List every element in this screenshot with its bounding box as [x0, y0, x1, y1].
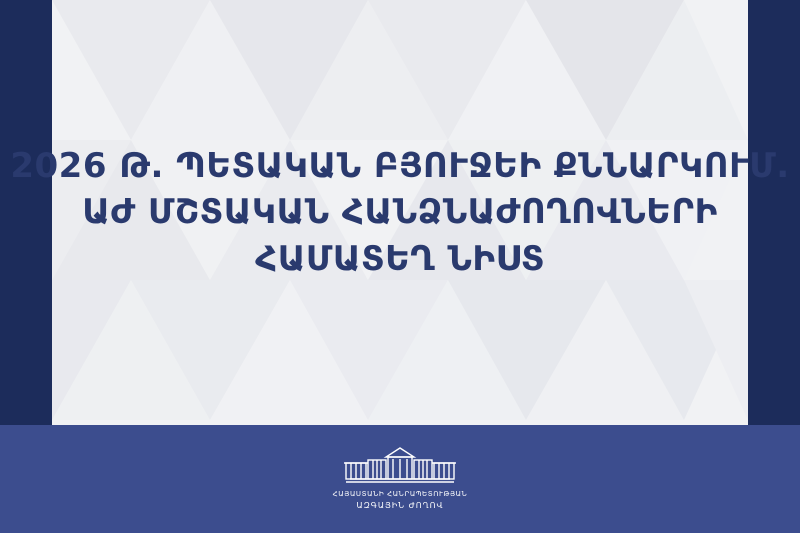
- title-line-1: 2026 Թ. ՊԵՏԱԿԱՆ ԲՅՈՒՋԵԻ ՔՆՆԱՐԿՈՒՄ.: [10, 143, 789, 189]
- title-line-3: ՀԱՄԱՏԵՂ ՆԻՍՏ: [255, 236, 545, 282]
- footer-bar: ՀԱՅԱՍՏԱՆԻ ՀԱՆՐԱՊԵՏՈՒԹՅԱՆ ԱԶԳԱՅԻՆ ԺՈՂՈՎ: [0, 425, 800, 533]
- banner: 2026 Թ. ՊԵՏԱԿԱՆ ԲՅՈՒՋԵԻ ՔՆՆԱՐԿՈՒՄ. ԱԺ ՄՇ…: [0, 0, 800, 533]
- title-block: 2026 Թ. ՊԵՏԱԿԱՆ ԲՅՈՒՋԵԻ ՔՆՆԱՐԿՈՒՄ. ԱԺ ՄՇ…: [52, 0, 748, 425]
- right-side-panel: [748, 0, 800, 425]
- parliament-emblem: ՀԱՅԱՍՏԱՆԻ ՀԱՆՐԱՊԵՏՈՒԹՅԱՆ ԱԶԳԱՅԻՆ ԺՈՂՈՎ: [333, 446, 468, 512]
- parliament-building-icon: [340, 446, 460, 486]
- left-side-panel: [0, 0, 52, 425]
- title-line-2: ԱԺ ՄՇՏԱԿԱՆ ՀԱՆՁՆԱԺՈՂՈՎՆԵՐԻ: [82, 189, 717, 235]
- emblem-caption-line2: ԱԶԳԱՅԻՆ ԺՈՂՈՎ: [333, 500, 468, 512]
- emblem-caption: ՀԱՅԱՍՏԱՆԻ ՀԱՆՐԱՊԵՏՈՒԹՅԱՆ ԱԶԳԱՅԻՆ ԺՈՂՈՎ: [333, 489, 468, 512]
- emblem-caption-line1: ՀԱՅԱՍՏԱՆԻ ՀԱՆՐԱՊԵՏՈՒԹՅԱՆ: [333, 489, 468, 500]
